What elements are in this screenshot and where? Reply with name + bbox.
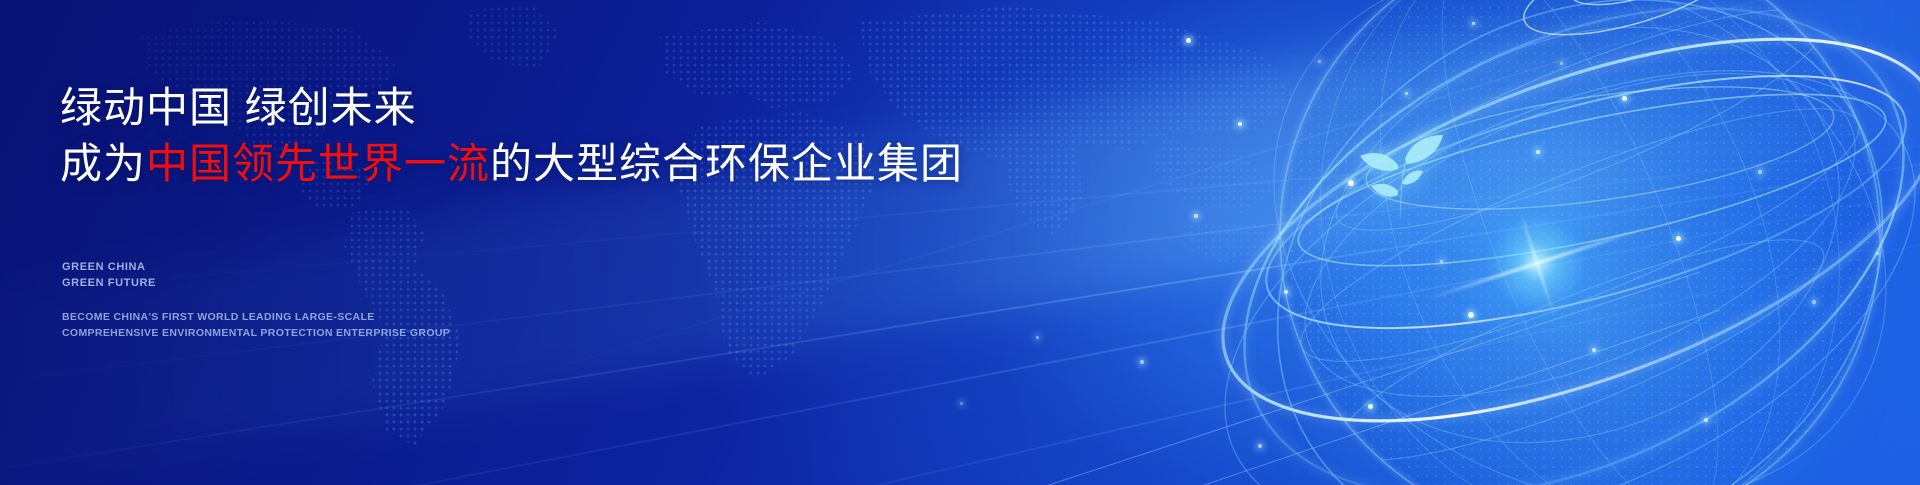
claim-english-line-1: BECOME CHINA'S FIRST WORLD LEADING LARGE…	[62, 310, 450, 326]
claim-english-line-2: COMPREHENSIVE ENVIRONMENTAL PROTECTION E…	[62, 326, 450, 342]
sprout-seedling-icon	[1351, 115, 1447, 225]
subtitle-english-line-1: GREEN CHINA	[62, 260, 156, 276]
claim-english: BECOME CHINA'S FIRST WORLD LEADING LARGE…	[62, 310, 450, 342]
headline-line-2: 成为中国领先世界一流的大型综合环保企业集团	[60, 139, 963, 189]
headline-line-2-suffix: 的大型综合环保企业集团	[490, 140, 963, 187]
subtitle-english-line-2: GREEN FUTURE	[62, 276, 156, 292]
headline-line-2-prefix: 成为	[60, 140, 146, 187]
globe-core-flare	[1442, 168, 1632, 358]
banner-copy: 绿动中国 绿创未来 成为中国领先世界一流的大型综合环保企业集团 GREEN CH…	[60, 0, 1100, 485]
headline: 绿动中国 绿创未来 成为中国领先世界一流的大型综合环保企业集团	[60, 83, 963, 188]
wireframe-globe	[1200, 0, 1920, 485]
hero-banner: 绿动中国 绿创未来 成为中国领先世界一流的大型综合环保企业集团 GREEN CH…	[0, 0, 1920, 485]
headline-line-1: 绿动中国 绿创未来	[60, 83, 963, 133]
headline-line-2-accent: 中国领先世界一流	[146, 140, 490, 187]
subtitle-english: GREEN CHINA GREEN FUTURE	[62, 260, 156, 292]
globe-halo	[1260, 30, 1880, 485]
